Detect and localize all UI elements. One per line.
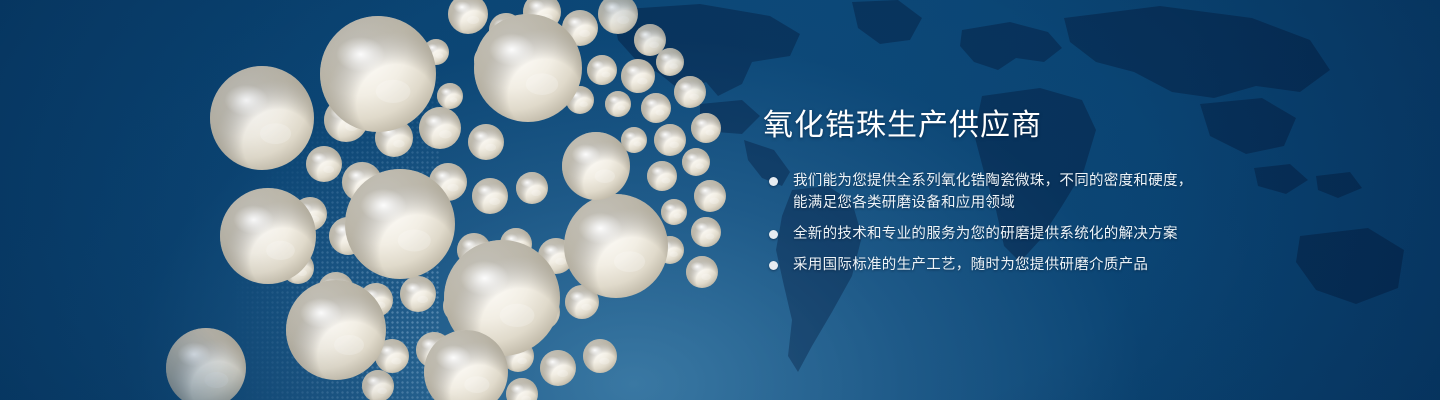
list-item: 我们能为您提供全系列氧化锆陶瓷微珠，不同的密度和硬度， 能满足您各类研磨设备和应… — [763, 170, 1233, 214]
banner-copy: 氧化锆珠生产供应商 我们能为您提供全系列氧化锆陶瓷微珠，不同的密度和硬度， 能满… — [763, 108, 1233, 276]
banner-headline: 氧化锆珠生产供应商 — [763, 108, 1233, 144]
list-item: 全新的技术和专业的服务为您的研磨提供系统化的解决方案 — [763, 223, 1233, 245]
bullet-line: 能满足您各类研磨设备和应用领域 — [793, 192, 1233, 214]
bullet-line: 全新的技术和专业的服务为您的研磨提供系统化的解决方案 — [793, 223, 1233, 245]
banner-feature-list: 我们能为您提供全系列氧化锆陶瓷微珠，不同的密度和硬度， 能满足您各类研磨设备和应… — [763, 170, 1233, 276]
bullet-line: 我们能为您提供全系列氧化锆陶瓷微珠，不同的密度和硬度， — [793, 170, 1233, 192]
bullet-dot-icon — [769, 177, 778, 186]
bullet-dot-icon — [769, 230, 778, 239]
list-item: 采用国际标准的生产工艺，随时为您提供研磨介质产品 — [763, 254, 1233, 276]
bullet-line: 采用国际标准的生产工艺，随时为您提供研磨介质产品 — [793, 254, 1233, 276]
hero-banner: 氧化锆珠生产供应商 我们能为您提供全系列氧化锆陶瓷微珠，不同的密度和硬度， 能满… — [0, 0, 1440, 400]
bullet-dot-icon — [769, 261, 778, 270]
